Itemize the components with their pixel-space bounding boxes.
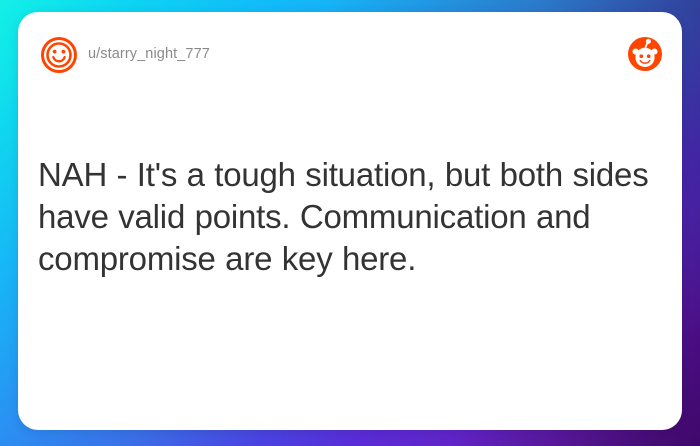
reddit-snoo-logo-icon[interactable] — [628, 37, 662, 71]
username-label: u/starry_night_777 — [88, 46, 210, 62]
reddit-comment-card: u/starry_night_777 NAH - It's a tough si… — [18, 12, 682, 430]
card-header: u/starry_night_777 — [18, 12, 682, 90]
avatar[interactable] — [40, 36, 78, 74]
comment-body-text: NAH - It's a tough situation, but both s… — [38, 154, 658, 280]
screenshot-stage: u/starry_night_777 NAH - It's a tough si… — [0, 0, 700, 446]
